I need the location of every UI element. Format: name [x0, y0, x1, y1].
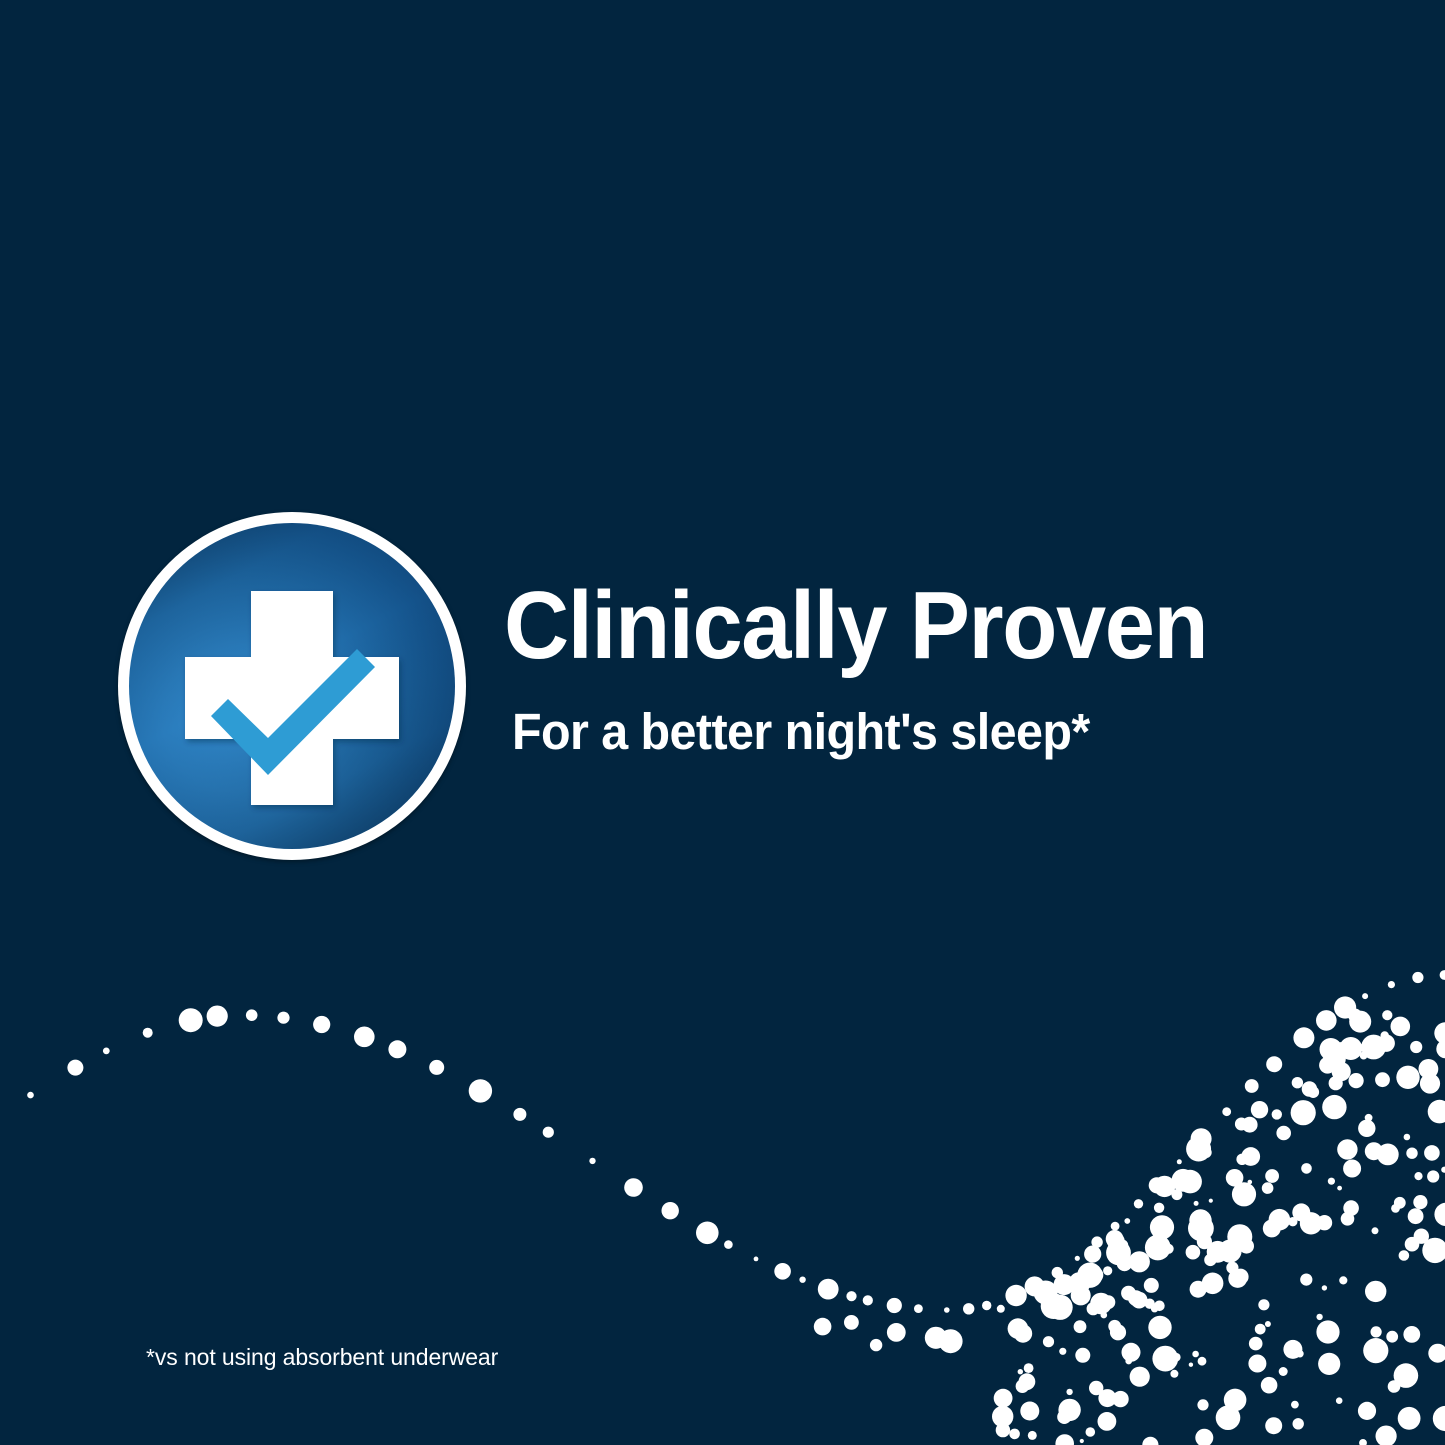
wave-dot [992, 1406, 1013, 1427]
wave-dot [1222, 1107, 1231, 1116]
wave-dot [1339, 1276, 1347, 1284]
wave-dot [696, 1222, 719, 1245]
wave-dot [1382, 1010, 1392, 1020]
wave-dot [1300, 1274, 1312, 1286]
wave-dot [1358, 1402, 1376, 1420]
wave-dot [863, 1295, 873, 1305]
wave-dot [277, 1012, 289, 1024]
wave-dot [1337, 1139, 1357, 1159]
wave-dot [1427, 1170, 1439, 1182]
wave-dot [1434, 1022, 1445, 1044]
wave-dot [1323, 1047, 1346, 1070]
wave-dot [1052, 1267, 1063, 1278]
wave-dot [1028, 1431, 1037, 1440]
wave-dot [1103, 1266, 1112, 1275]
wave-dot [1236, 1154, 1247, 1165]
wave-dot [1283, 1340, 1302, 1359]
wave-dot [818, 1279, 839, 1300]
wave-dot [1265, 1321, 1271, 1327]
wave-dot [1337, 1186, 1342, 1191]
wave-dot [1295, 1418, 1301, 1424]
wave-dot [1151, 1305, 1158, 1312]
wave-dot [179, 1008, 203, 1032]
wave-dot [246, 1009, 258, 1021]
wave-dot [1365, 1281, 1386, 1302]
wave-dot [1058, 1399, 1080, 1421]
wave-dot [27, 1092, 34, 1099]
wave-dot [1016, 1379, 1030, 1393]
wave-dot [1307, 1086, 1319, 1098]
wave-dot [1087, 1302, 1100, 1315]
wave-dot [1129, 1251, 1150, 1272]
wave-dot [1414, 1229, 1429, 1244]
wave-dot [1077, 1263, 1102, 1288]
wave-dot [1226, 1169, 1244, 1187]
wave-dot [1188, 1215, 1214, 1241]
wave-dot [1014, 1324, 1032, 1342]
wave-dot [1329, 1076, 1343, 1090]
wave-dot [1122, 1343, 1141, 1362]
wave-dot [1057, 1410, 1071, 1424]
wave-dot [1386, 1331, 1398, 1343]
wave-dot [1069, 1272, 1091, 1294]
wave-dot [1274, 1219, 1281, 1226]
wave-dot [1121, 1286, 1136, 1301]
wave-dot [589, 1158, 595, 1164]
wave-dot [1422, 1238, 1445, 1263]
wave-dot [1263, 1219, 1281, 1237]
wave-dot [1172, 1169, 1195, 1192]
wave-dot [1178, 1170, 1202, 1194]
wave-dot [1109, 1231, 1121, 1243]
wave-dot [1394, 1363, 1419, 1388]
wave-dot [1005, 1285, 1026, 1306]
wave-dot [1399, 1250, 1410, 1261]
wave-dot [1361, 1035, 1386, 1060]
wave-dot [1071, 1285, 1091, 1305]
wave-dot [513, 1108, 526, 1121]
wave-dot [1177, 1159, 1182, 1164]
wave-dot [844, 1315, 859, 1330]
wave-dot [1341, 1212, 1355, 1226]
wave-dot [1414, 1172, 1422, 1180]
wave-dot [1365, 1142, 1383, 1160]
wave-dot [1209, 1199, 1213, 1203]
wave-dot [1080, 1439, 1084, 1443]
wave-dot [1192, 1351, 1199, 1358]
wave-dot [799, 1277, 805, 1283]
wave-dot [1226, 1262, 1238, 1274]
wave-dot [1164, 1244, 1174, 1254]
wave-dot [1358, 1120, 1375, 1137]
wave-dot [1090, 1293, 1112, 1315]
wave-dot [1419, 1059, 1439, 1079]
wave-dot [1218, 1240, 1241, 1263]
wave-dot [1145, 1299, 1155, 1309]
clinically-proven-badge [118, 512, 466, 860]
wave-dot [1186, 1137, 1211, 1162]
wave-dot [1075, 1348, 1090, 1363]
wave-dot [1248, 1355, 1266, 1373]
wave-dot [1154, 1301, 1165, 1312]
wave-dot [1428, 1344, 1445, 1363]
wave-dot [1249, 1337, 1263, 1351]
wave-dot [1348, 1009, 1362, 1023]
wave-dot [870, 1339, 882, 1351]
wave-dot [1365, 1114, 1373, 1122]
wave-dot [1388, 981, 1395, 988]
wave-dot [1336, 1397, 1343, 1404]
wave-dot [1117, 1258, 1129, 1270]
wave-dot [754, 1257, 759, 1262]
wave-dot [1227, 1224, 1252, 1249]
wave-dot [1242, 1117, 1258, 1133]
wave-dot [1142, 1437, 1158, 1445]
page-title: Clinically Proven [504, 578, 1207, 674]
wave-dot [1241, 1147, 1260, 1166]
wave-dot [1391, 1017, 1411, 1037]
wave-dot [1276, 1126, 1291, 1141]
wave-dot [103, 1048, 110, 1055]
wave-dot [1235, 1118, 1248, 1131]
wave-dot [1145, 1235, 1171, 1261]
wave-dot [1080, 1270, 1094, 1284]
wave-dot [1216, 1405, 1241, 1430]
wave-dot [1251, 1101, 1268, 1118]
wave-dot [1300, 1212, 1322, 1234]
wave-dot [1404, 1134, 1411, 1141]
wave-dot [1024, 1363, 1034, 1373]
wave-dot [1412, 972, 1423, 983]
wave-dot [1376, 1426, 1397, 1445]
wave-dot [1008, 1318, 1029, 1339]
wave-dot [1186, 1245, 1201, 1260]
wave-dot [1291, 1401, 1299, 1409]
wave-dot [846, 1291, 856, 1301]
wave-dot [1302, 1081, 1317, 1096]
wave-dot [1048, 1295, 1073, 1320]
wave-dot [1232, 1269, 1248, 1285]
wave-dot [1255, 1324, 1266, 1335]
wave-dot [1202, 1273, 1224, 1295]
wave-dot [1372, 1227, 1379, 1234]
wave-dot [1363, 1338, 1388, 1363]
wave-dot [1087, 1267, 1103, 1283]
wave-dot [963, 1303, 974, 1314]
wave-dot [1394, 1197, 1406, 1209]
wave-dot [1403, 1326, 1420, 1343]
wave-dot [1134, 1199, 1143, 1208]
wave-dot [1440, 970, 1445, 980]
wave-dot [1360, 1052, 1368, 1060]
wave-dot [1375, 1072, 1390, 1087]
wave-dot [1428, 1100, 1445, 1124]
wave-dot [1377, 1144, 1399, 1166]
wave-dot [1433, 1406, 1445, 1431]
wave-dot [1262, 1182, 1274, 1194]
wave-dot [996, 1423, 1010, 1437]
wave-dot [1073, 1280, 1085, 1292]
wave-dot [1371, 1326, 1382, 1337]
wave-dot [1296, 1350, 1303, 1357]
wave-dot [1406, 1148, 1417, 1159]
wave-dot [1125, 1358, 1132, 1365]
wave-dot [994, 1389, 1013, 1408]
wave-dot [939, 1329, 963, 1353]
wave-dot [1150, 1215, 1174, 1239]
wave-dot [313, 1016, 330, 1033]
wave-dot [1074, 1320, 1087, 1333]
wave-dot [624, 1178, 643, 1197]
wave-dot [814, 1318, 832, 1336]
wave-dot [1117, 1256, 1133, 1272]
wave-dot [1322, 1285, 1327, 1290]
wave-dot [1224, 1389, 1247, 1412]
wave-dot [1316, 1320, 1339, 1343]
wave-dot [724, 1240, 733, 1249]
wave-dot [1043, 1336, 1054, 1347]
wave-dot [1332, 1062, 1351, 1081]
wave-dot [1171, 1189, 1182, 1200]
wave-dot [1128, 1290, 1144, 1306]
wave-dot [1292, 1077, 1303, 1088]
wave-dot [1172, 1353, 1181, 1362]
wave-dot [1339, 1037, 1362, 1060]
wave-dot [1269, 1209, 1291, 1231]
wave-dot [1334, 996, 1356, 1018]
wave-dot [1144, 1278, 1159, 1293]
wave-dot [1258, 1299, 1269, 1310]
medical-cross-check-icon [129, 523, 455, 849]
wave-dot [1293, 1418, 1304, 1429]
wave-dot [1059, 1348, 1066, 1355]
wave-dot [1405, 1237, 1420, 1252]
wave-dot [1245, 1079, 1259, 1093]
wave-dot [982, 1301, 991, 1310]
wave-dot [1025, 1276, 1045, 1296]
wave-dot [1301, 1163, 1312, 1174]
wave-dot [1388, 1380, 1401, 1393]
wave-dot [1391, 1204, 1400, 1213]
wave-dot [887, 1298, 902, 1313]
wave-dot [1101, 1295, 1115, 1309]
wave-dot [1261, 1377, 1278, 1394]
wave-dot [1055, 1434, 1074, 1445]
wave-dot [1378, 1035, 1395, 1052]
wave-dot [1279, 1367, 1288, 1376]
wave-dot [1009, 1429, 1020, 1440]
wave-dot [1107, 1233, 1125, 1251]
wave-dot [1118, 1240, 1129, 1251]
wave-dot [1398, 1407, 1421, 1430]
wave-dot [469, 1079, 492, 1102]
wave-dot [1190, 1281, 1207, 1298]
wave-dot [1320, 1038, 1343, 1061]
wave-dot [1408, 1208, 1424, 1224]
wave-dot [1322, 1095, 1346, 1119]
wave-dot [1197, 1234, 1212, 1249]
wave-dot [1106, 1230, 1124, 1248]
wave-dot [143, 1028, 153, 1038]
wave-dot [1154, 1176, 1175, 1197]
wave-dot [1034, 1281, 1058, 1305]
wave-dot [1149, 1177, 1165, 1193]
wave-dot [1054, 1274, 1075, 1295]
wave-dot [1194, 1201, 1199, 1206]
wave-dot [1152, 1346, 1178, 1372]
wave-dot [1418, 1231, 1425, 1238]
wave-dot [1349, 1011, 1371, 1033]
wave-dot [1424, 1145, 1440, 1161]
wave-dot [1041, 1293, 1067, 1319]
wave-dot [914, 1304, 923, 1313]
wave-dot [1084, 1246, 1101, 1263]
wave-dot [944, 1307, 950, 1313]
wave-dot [1316, 1314, 1322, 1320]
wave-dot [1112, 1391, 1128, 1407]
wave-dot [1098, 1412, 1117, 1431]
wave-dot [1420, 1073, 1440, 1093]
wave-dot [1328, 1178, 1335, 1185]
wave-dot [1335, 1042, 1348, 1055]
wave-dot [1106, 1240, 1131, 1265]
wave-dot [1316, 1010, 1337, 1031]
wave-dot [1124, 1218, 1130, 1224]
wave-dot [1288, 1217, 1297, 1226]
wave-dot [1189, 1363, 1193, 1367]
wave-dot [1265, 1417, 1282, 1434]
wave-dot [1292, 1203, 1310, 1221]
wave-dot [1410, 1041, 1422, 1053]
wave-dot [1148, 1316, 1171, 1339]
wave-dot [1191, 1128, 1212, 1149]
wave-dot [1349, 1073, 1364, 1088]
wave-dot [1434, 1203, 1445, 1226]
wave-dot [1343, 1200, 1359, 1216]
wave-dot [1362, 993, 1368, 999]
footnote-disclaimer: *vs not using absorbent underwear [146, 1345, 498, 1370]
wave-dot [1066, 1389, 1072, 1395]
wave-dot [1343, 1160, 1361, 1178]
wave-dot [207, 1006, 228, 1027]
wave-dot [1266, 1056, 1282, 1072]
wave-dot [354, 1027, 375, 1048]
wave-dot [1018, 1369, 1023, 1374]
wave-dot [1075, 1256, 1080, 1261]
wave-dot [887, 1323, 906, 1342]
wave-dot [1098, 1389, 1116, 1407]
wave-dot [1228, 1269, 1247, 1288]
wave-dot [1131, 1292, 1148, 1309]
wave-dot [925, 1327, 947, 1349]
wave-dot [388, 1040, 406, 1058]
wave-dot [1198, 1357, 1207, 1366]
cross-shape [185, 591, 399, 805]
wave-dot [1108, 1320, 1121, 1333]
wave-dot [1232, 1182, 1256, 1206]
wave-dot [1436, 1040, 1445, 1059]
wave-dot [1248, 1180, 1253, 1185]
wave-dot [1086, 1427, 1096, 1437]
wave-dot [1441, 1167, 1445, 1173]
promo-banner: Clinically Proven For a better night's s… [0, 0, 1445, 1445]
wave-dot [1207, 1241, 1229, 1263]
wave-dot [543, 1127, 554, 1138]
wave-dot [1195, 1429, 1213, 1445]
wave-dot [1381, 1031, 1389, 1039]
wave-dot [1413, 1195, 1427, 1209]
wave-dot [1154, 1203, 1164, 1213]
wave-dot [662, 1202, 679, 1219]
wave-dot [1318, 1353, 1340, 1375]
wave-dot [1189, 1209, 1211, 1231]
wave-dot [1291, 1100, 1316, 1125]
wave-dot [1170, 1370, 1178, 1378]
wave-dot [1130, 1367, 1150, 1387]
wave-dot [67, 1060, 83, 1076]
wave-dot [1396, 1066, 1419, 1089]
wave-dot [429, 1060, 444, 1075]
wave-dot [1272, 1109, 1282, 1119]
wave-dot [997, 1305, 1005, 1313]
wave-dot [1089, 1381, 1103, 1395]
wave-dot [1319, 1057, 1336, 1074]
wave-dot [1110, 1324, 1126, 1340]
wave-dot [1317, 1215, 1332, 1230]
wave-dot [1111, 1222, 1120, 1231]
wave-dot [1265, 1169, 1279, 1183]
wave-dot [1201, 1147, 1212, 1158]
wave-dot [1101, 1312, 1108, 1319]
wave-dot [1020, 1402, 1039, 1421]
wave-dot [774, 1263, 791, 1280]
wave-dot [1197, 1399, 1208, 1410]
wave-dot [1239, 1239, 1254, 1254]
wave-dot [1091, 1236, 1102, 1247]
wave-dot [1375, 1350, 1385, 1360]
wave-dot [1293, 1027, 1314, 1048]
wave-dot [1359, 1439, 1367, 1445]
wave-dot [1204, 1254, 1216, 1266]
page-subtitle: For a better night's sleep* [512, 706, 1090, 757]
wave-dot [1019, 1373, 1036, 1390]
